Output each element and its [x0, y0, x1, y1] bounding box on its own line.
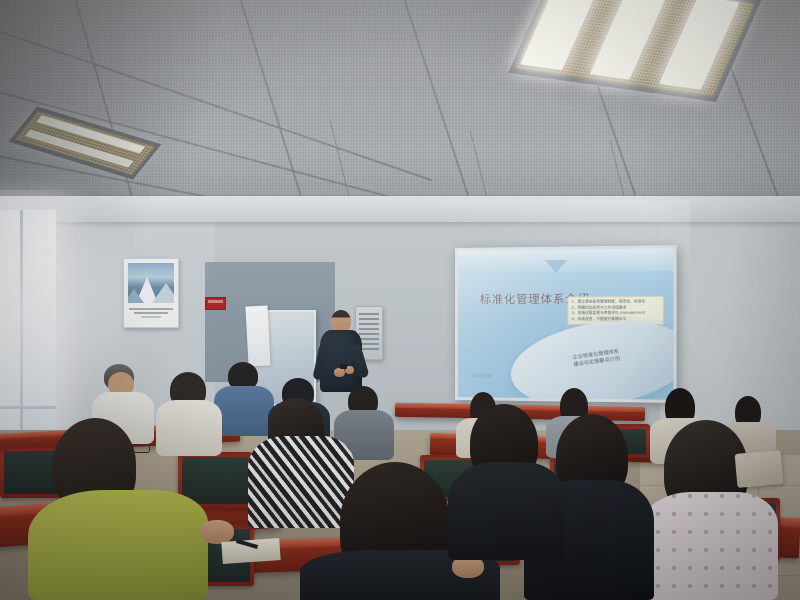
poster-caption-line: [129, 308, 173, 310]
mountain-peak-shape: [128, 289, 144, 303]
wall-poster: [123, 258, 179, 328]
attendee-torso: [248, 436, 354, 528]
attendee-torso: [156, 400, 222, 456]
poster-caption-line: [134, 312, 168, 314]
attendee-torso: [448, 462, 564, 560]
attendee-hand: [200, 520, 234, 544]
ac-vent: [359, 343, 379, 345]
conference-room-photo: 标准化管理体系介绍 1、建立健全各项管理制度，规范化、标准化 2、明确岗位职责与…: [0, 0, 800, 600]
ac-vent: [359, 318, 379, 320]
projection-screen: 标准化管理体系介绍 1、建立健全各项管理制度，规范化、标准化 2、明确岗位职责与…: [455, 245, 677, 403]
presentation-slide: 标准化管理体系介绍 1、建立健全各项管理制度，规范化、标准化 2、明确岗位职责与…: [458, 248, 674, 400]
window-mullion: [20, 210, 23, 445]
ac-vent: [359, 323, 379, 325]
notebook: [221, 538, 280, 564]
chair-pad: [182, 457, 248, 504]
slide-footer-text: 标准化管理: [472, 373, 492, 379]
poster-caption-line: [141, 316, 161, 318]
red-wall-sign: [205, 297, 226, 310]
slide-triangle-decor: [545, 260, 568, 273]
window: [0, 210, 56, 445]
ac-vent: [359, 313, 379, 315]
attendee-torso: [214, 386, 274, 436]
wall-soffit: [0, 196, 800, 222]
mountain-peak-shape: [152, 283, 174, 303]
blouse-floral-pattern: [638, 492, 778, 600]
attendee-glasses-icon: [126, 444, 150, 453]
ac-vent: [359, 328, 379, 330]
poster-mountain-image: [128, 263, 174, 303]
ac-vent: [359, 338, 379, 340]
sign-highlight: [208, 300, 223, 303]
flipchart-sheet: [245, 305, 270, 366]
attendee-torso: [28, 490, 208, 600]
slide-note-line: 1、建立健全各项管理制度，规范化、标准化: [571, 299, 659, 304]
presenter-hand: [334, 368, 345, 377]
ac-vent: [359, 333, 379, 335]
poster-caption: [129, 306, 173, 322]
slide-note-line: 3、加强过程监督与考核评价 management: [571, 311, 659, 316]
window-mullion: [0, 406, 56, 409]
presenter-clicker: [340, 364, 347, 369]
slide-note-line: 2、明确岗位职责与工作流程要求: [571, 305, 659, 310]
